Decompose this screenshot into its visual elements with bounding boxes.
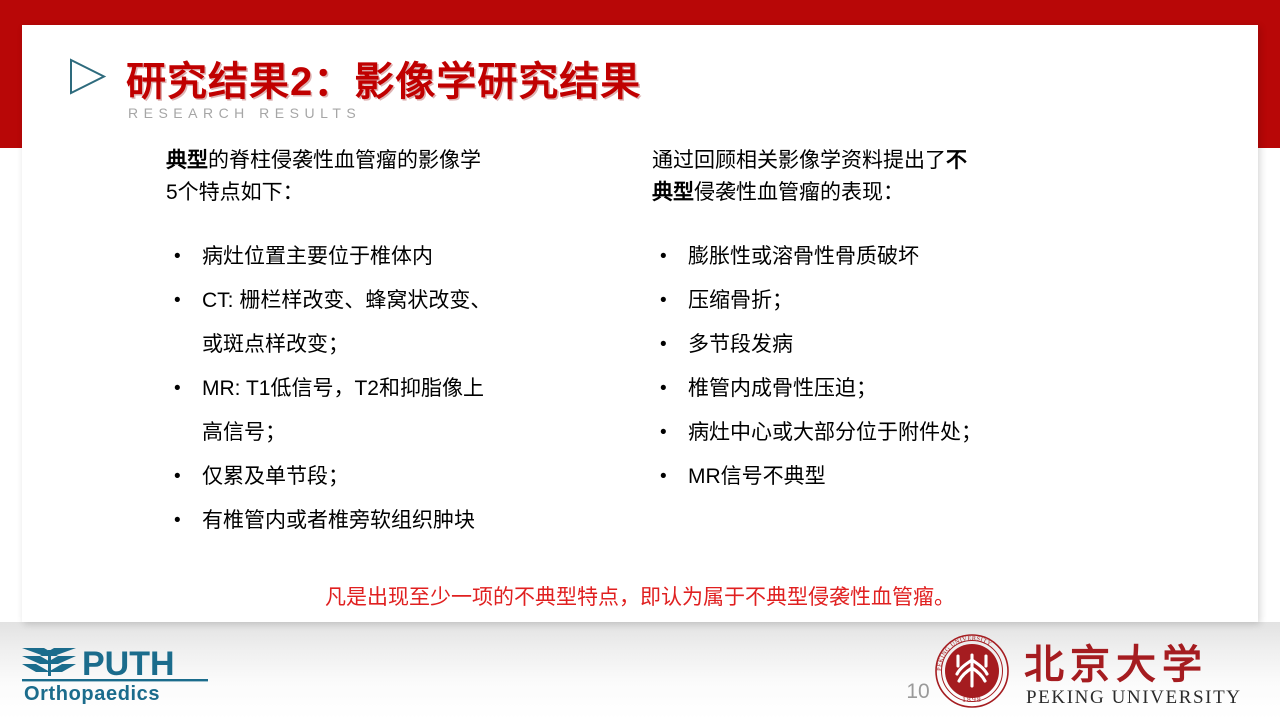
puth-orthopaedics-logo: PUTH Orthopaedics (18, 642, 213, 704)
right-column-intro: 通过回顾相关影像学资料提出了不 典型侵袭性血管瘤的表现： (652, 145, 1102, 209)
list-item-label: 椎管内成骨性压迫； (688, 367, 1102, 411)
list-item: • 病灶中心或大部分位于附件处； (652, 411, 1102, 455)
left-intro-bold: 典型 (166, 149, 208, 172)
list-item: • 椎管内成骨性压迫； (652, 367, 1102, 411)
bullet-marker-icon: • (652, 235, 688, 279)
list-item: • MR: T1低信号，T2和抑脂像上 高信号； (166, 367, 616, 455)
slide-root: 研究结果2：影像学研究结果 RESEARCH RESULTS 典型的脊柱侵袭性血… (0, 0, 1280, 720)
right-intro-part1: 通过回顾相关影像学资料提出了 (652, 149, 946, 172)
play-triangle-icon (60, 51, 112, 103)
red-band-right (1258, 0, 1280, 148)
red-band-top (0, 0, 1280, 25)
list-item-label: 压缩骨折； (688, 279, 1102, 323)
content-card: 研究结果2：影像学研究结果 RESEARCH RESULTS 典型的脊柱侵袭性血… (22, 25, 1258, 622)
list-item: • 压缩骨折； (652, 279, 1102, 323)
list-item: • MR信号不典型 (652, 455, 1102, 499)
page-subtitle: RESEARCH RESULTS (128, 105, 361, 121)
right-intro-part2: 侵袭性血管瘤的表现： (694, 181, 904, 204)
list-item-label: MR信号不典型 (688, 455, 1102, 499)
slide-header: 研究结果2：影像学研究结果 RESEARCH RESULTS (22, 25, 1258, 135)
list-item: • 有椎管内或者椎旁软组织肿块 (166, 499, 616, 543)
list-item: • 多节段发病 (652, 323, 1102, 367)
bullet-marker-icon: • (652, 279, 688, 323)
left-column: 典型的脊柱侵袭性血管瘤的影像学 5个特点如下： • 病灶位置主要位于椎体内 • … (166, 145, 616, 543)
bullet-marker-icon: • (166, 279, 202, 323)
svg-text:1898: 1898 (962, 695, 982, 704)
left-bullet-list: • 病灶位置主要位于椎体内 • CT: 栅栏样改变、蜂窝状改变、 或斑点样改变；… (166, 235, 616, 543)
list-item-label: CT: 栅栏样改变、蜂窝状改变、 或斑点样改变； (202, 279, 616, 367)
list-item-label: MR: T1低信号，T2和抑脂像上 高信号； (202, 367, 616, 455)
left-column-intro: 典型的脊柱侵袭性血管瘤的影像学 5个特点如下： (166, 145, 616, 209)
list-item-label: 膨胀性或溶骨性骨质破坏 (688, 235, 1102, 279)
svg-text:PUTH: PUTH (82, 645, 175, 683)
page-title: 研究结果2：影像学研究结果 (126, 49, 641, 107)
svg-text:Orthopaedics: Orthopaedics (24, 683, 160, 704)
list-item-label: 病灶中心或大部分位于附件处； (688, 411, 1102, 455)
list-item: • 膨胀性或溶骨性骨质破坏 (652, 235, 1102, 279)
list-item-label: 病灶位置主要位于椎体内 (202, 235, 616, 279)
pku-chinese-name: 北京大学 (1024, 642, 1208, 688)
bullet-marker-icon: • (166, 235, 202, 279)
bullet-marker-icon: • (166, 367, 202, 411)
list-item-label: 多节段发病 (688, 323, 1102, 367)
right-column: 通过回顾相关影像学资料提出了不 典型侵袭性血管瘤的表现： • 膨胀性或溶骨性骨质… (652, 145, 1102, 499)
peking-university-logo: PEKING UNIVERSITY 1898 北京大学 PEKING UNIVE… (928, 630, 1258, 712)
list-item: • 仅累及单节段； (166, 455, 616, 499)
list-item: • CT: 栅栏样改变、蜂窝状改变、 或斑点样改变； (166, 279, 616, 367)
content-columns: 典型的脊柱侵袭性血管瘤的影像学 5个特点如下： • 病灶位置主要位于椎体内 • … (22, 145, 1258, 565)
conclusion-text: 凡是出现至少一项的不典型特点，即认为属于不典型侵袭性血管瘤。 (22, 581, 1258, 611)
right-bullet-list: • 膨胀性或溶骨性骨质破坏 • 压缩骨折； • 多节段发病 • 椎管内成骨性压迫… (652, 235, 1102, 499)
list-item-label: 有椎管内或者椎旁软组织肿块 (202, 499, 616, 543)
bullet-marker-icon: • (652, 367, 688, 411)
list-item-label: 仅累及单节段； (202, 455, 616, 499)
red-band-left (0, 0, 22, 148)
bullet-marker-icon: • (166, 455, 202, 499)
bullet-marker-icon: • (652, 411, 688, 455)
bullet-marker-icon: • (652, 323, 688, 367)
pku-english-name: PEKING UNIVERSITY (1026, 687, 1242, 708)
left-intro-rest: 的脊柱侵袭性血管瘤的影像学 5个特点如下： (166, 149, 481, 204)
list-item: • 病灶位置主要位于椎体内 (166, 235, 616, 279)
bullet-marker-icon: • (652, 455, 688, 499)
bullet-marker-icon: • (166, 499, 202, 543)
